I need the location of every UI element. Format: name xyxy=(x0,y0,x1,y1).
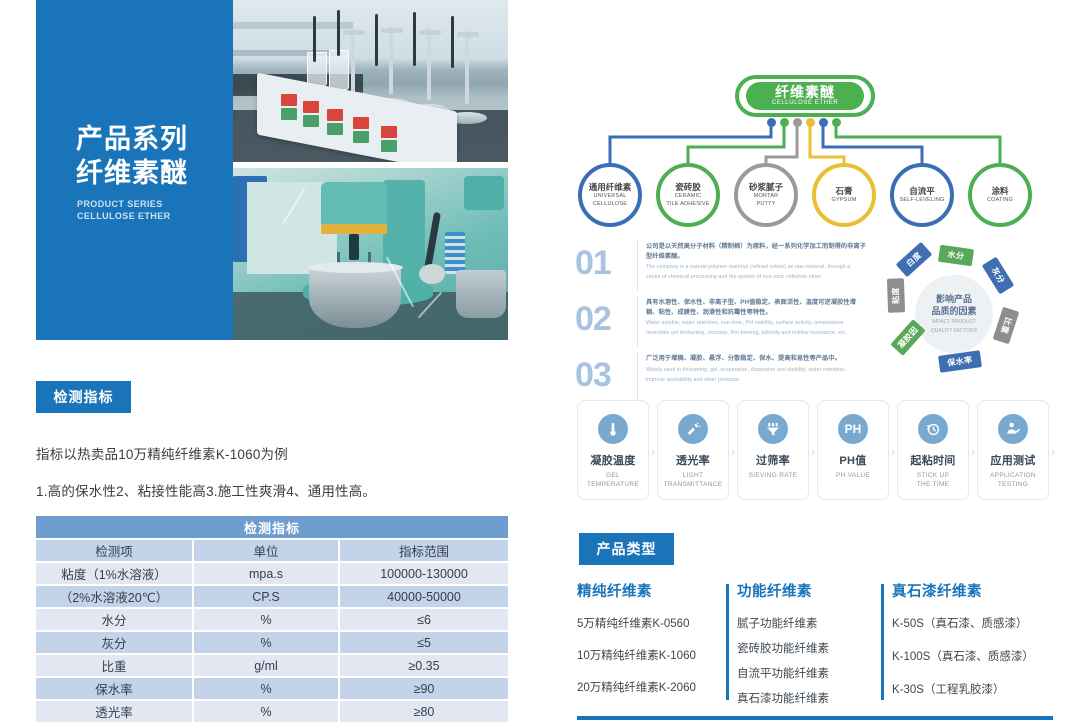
segment-whiteness: 白度 xyxy=(896,242,933,277)
segment-ash: 灰分 xyxy=(982,257,1014,295)
leaf-label-cn: 通用纤维素 xyxy=(589,182,632,193)
table-cell: 水分 xyxy=(36,609,194,630)
item-number: 03 xyxy=(575,352,637,402)
circle-center: 影响产品 品质的因素 IMPACT PRODUCT QUALITY FACTOR… xyxy=(915,275,993,353)
table-cell: % xyxy=(194,609,340,630)
table-row: 透光率%≥80 xyxy=(36,701,508,722)
clock-icon xyxy=(918,414,948,444)
metric-card-label-en: LIGHTTRANSMITTANCE xyxy=(664,471,723,489)
metric-card-label-en: STICK UPTHE TIME xyxy=(917,471,950,489)
segment-viscosity: 粘度 xyxy=(887,278,905,313)
leaf-label-en1: SELF-LEVELING xyxy=(899,197,944,205)
thermometer-icon xyxy=(598,414,628,444)
metric-card-flashlight[interactable]: 透光率LIGHTTRANSMITTANCE› xyxy=(657,400,729,500)
table-cell: ≥0.35 xyxy=(340,655,508,676)
hero-subtitle-line1: PRODUCT SERIES xyxy=(77,198,171,210)
item-text: 具有水溶性、保水性、非离子型、PH值稳定、表面活性、温度可逆凝胶性增稠、粘性、成… xyxy=(646,296,875,346)
chevron-right-icon: › xyxy=(891,447,895,459)
table-cell: ≥90 xyxy=(340,678,508,699)
circle-center-en1: IMPACT PRODUCT xyxy=(932,319,977,326)
metric-card-label-cn: PH值 xyxy=(839,452,866,468)
tree-leaf-coating: 涂料 COATING xyxy=(968,163,1032,227)
hero-title-line1: 产品系列 xyxy=(76,122,188,156)
product-type-heading: 真石漆纤维素 xyxy=(892,580,1038,601)
sieve-icon xyxy=(758,414,788,444)
product-type-item[interactable]: K-100S（真石漆、质感漆） xyxy=(892,650,1038,664)
leaf-label-en1: MORTAR xyxy=(754,193,779,201)
table-cell: CP.S xyxy=(194,586,340,607)
product-type-column-1: 精纯纤维素5万精纯纤维素K-056010万精纯纤维素K-106020万精纯纤维素… xyxy=(577,580,737,717)
left-column: 产品系列 纤维素醚 PRODUCT SERIES CELLULOSE ETHER xyxy=(0,0,545,728)
product-type-item[interactable]: K-30S（工程乳胶漆） xyxy=(892,683,1038,697)
item-divider xyxy=(637,240,638,290)
segment-moisture: 水分 xyxy=(938,245,974,267)
leaf-label-cn: 自流平 xyxy=(909,186,935,197)
item-cn-line2: 稠、粘性、成膜性、润滑性和抗霉性等特性。 xyxy=(646,308,875,318)
hero-title-panel: 产品系列 纤维素醚 PRODUCT SERIES CELLULOSE ETHER xyxy=(36,0,233,340)
mortar-mixer-photo xyxy=(233,168,508,340)
item-divider xyxy=(637,352,638,402)
product-type-item[interactable]: 真石漆功能纤维素 xyxy=(737,692,878,706)
laboratory-stirrer-photo xyxy=(233,0,508,162)
leaf-label-en2: CELLULOSE xyxy=(593,201,627,209)
test-metric-cards: 凝胶温度GELTEMPERATURE›透光率LIGHTTRANSMITTANCE… xyxy=(577,400,1049,500)
leaf-label-en1: GYPSUM xyxy=(831,197,856,205)
table-cell: （2%水溶液20℃） xyxy=(36,586,194,607)
product-type-column-2: 功能纤维素腻子功能纤维素瓷砖胶功能纤维素自流平功能纤维素真石漆功能纤维素 xyxy=(737,580,892,717)
quality-factors-circle-diagram: 影响产品 品质的因素 IMPACT PRODUCT QUALITY FACTOR… xyxy=(877,245,1027,390)
metric-card-sieve[interactable]: 过筛率SIEVING RATE› xyxy=(737,400,809,500)
product-type-item[interactable]: 20万精纯纤维素K-2060 xyxy=(577,681,723,695)
table-cell: ≥80 xyxy=(340,701,508,722)
numbered-item-01: 01公司是以天然高分子材料（精制棉）为原料，经一系列化学加工而制得的非离子型纤维… xyxy=(575,240,875,290)
leaf-label-en1: CERAMIC xyxy=(675,193,702,201)
tree-dot-1 xyxy=(767,118,776,127)
table-cell: 100000-130000 xyxy=(340,563,508,584)
product-type-badge: 产品类型 xyxy=(579,533,674,565)
table-cell: 保水率 xyxy=(36,678,194,699)
product-type-item[interactable]: K-50S（真石漆、质感漆） xyxy=(892,617,1038,631)
table-row: （2%水溶液20℃）CP.S40000-50000 xyxy=(36,586,508,607)
feature-numbered-list: 01公司是以天然高分子材料（精制棉）为原料，经一系列化学加工而制得的非离子型纤维… xyxy=(575,240,875,408)
item-divider xyxy=(637,296,638,346)
tree-leaf-mortar-putty: 砂浆腻子 MORTAR PUTTY xyxy=(734,163,798,227)
hero-photos xyxy=(233,0,511,340)
table-caption-row: 检测指标 xyxy=(36,516,508,538)
metric-card-label-cn: 过筛率 xyxy=(756,452,790,468)
right-column: 纤维素醚 CELLULOSE ETHER 通用纤维素 UNIVERSAL CEL… xyxy=(545,0,1080,728)
metric-card-label-cn: 应用测试 xyxy=(990,452,1035,468)
table-cell: ≤6 xyxy=(340,609,508,630)
table-header-cell: 指标范围 xyxy=(340,540,508,561)
table-header-cell: 单位 xyxy=(194,540,340,561)
metric-card-label-cn: 起粘时间 xyxy=(910,452,955,468)
item-cn-line1: 公司是以天然高分子材料（精制棉）为原料，经一系列化学加工而制得的非离子 xyxy=(646,242,875,252)
leaf-label-en2: PUTTY xyxy=(756,201,775,209)
hero-subtitle-line2: CELLULOSE ETHER xyxy=(77,210,171,222)
table-row: 灰分%≤5 xyxy=(36,632,508,653)
table-row: 水分%≤6 xyxy=(36,609,508,630)
tree-root-label-cn: 纤维素醚 xyxy=(775,85,835,99)
metric-card-thermometer[interactable]: 凝胶温度GELTEMPERATURE› xyxy=(577,400,649,500)
inspection-table: 检测指标检测项单位指标范围粘度（1%水溶液）mpa.s100000-130000… xyxy=(36,514,508,724)
chevron-right-icon: › xyxy=(971,447,975,459)
leaf-label-en1: COATING xyxy=(987,197,1013,205)
table-cell: mpa.s xyxy=(194,563,340,584)
product-type-item[interactable]: 自流平功能纤维素 xyxy=(737,667,878,681)
item-text: 公司是以天然高分子材料（精制棉）为原料，经一系列化学加工而制得的非离子型纤维素醚… xyxy=(646,240,875,290)
table-cell: 粘度（1%水溶液） xyxy=(36,563,194,584)
segment-specific-gravity: 比重 xyxy=(993,307,1020,345)
segment-water-retention: 保水率 xyxy=(938,350,982,373)
table-row: 比重g/ml≥0.35 xyxy=(36,655,508,676)
intro-line-2: 1.高的保水性2、粘接性能高3.施工性爽滑4、通用性高。 xyxy=(36,480,376,500)
tree-leaf-universal-cellulose: 通用纤维素 UNIVERSAL CELLULOSE xyxy=(578,163,642,227)
metric-card-label-cn: 透光率 xyxy=(676,452,710,468)
metric-card-user-check[interactable]: 应用测试APPLICATIONTESTING› xyxy=(977,400,1049,500)
table-cell: % xyxy=(194,632,340,653)
table-header-cell: 检测项 xyxy=(36,540,194,561)
tree-dot-2 xyxy=(780,118,789,127)
product-type-item[interactable]: 5万精纯纤维素K-0560 xyxy=(577,617,723,631)
user-check-icon xyxy=(998,414,1028,444)
column-divider xyxy=(881,584,884,700)
item-en-line2: reversible gel thickening, viscosity, fi… xyxy=(646,329,875,337)
table-caption: 检测指标 xyxy=(36,516,508,538)
table-cell: 透光率 xyxy=(36,701,194,722)
leaf-label-cn: 瓷砖胶 xyxy=(675,182,701,193)
item-text: 广泛用于增稠、凝胶、悬浮、分散稳定、保水、提高和易性等产品中。Widely us… xyxy=(646,352,875,402)
circle-center-en2: QUALITY FACTORS xyxy=(931,328,977,335)
metric-card-label-en: PH VALUE xyxy=(836,471,870,480)
application-tree-diagram: 纤维素醚 CELLULOSE ETHER 通用纤维素 UNIVERSAL CEL… xyxy=(575,55,1055,235)
tree-root-label-en: CELLULOSE ETHER xyxy=(772,99,838,108)
metric-card-label-en: APPLICATIONTESTING xyxy=(990,471,1036,489)
metric-card-label-en: SIEVING RATE xyxy=(749,471,798,480)
product-type-item[interactable]: 腻子功能纤维素 xyxy=(737,617,878,631)
product-type-item[interactable]: 10万精纯纤维素K-1060 xyxy=(577,649,723,663)
numbered-item-03: 03广泛用于增稠、凝胶、悬浮、分散稳定、保水、提高和易性等产品中。Widely … xyxy=(575,352,875,402)
item-en-line2: series of chemical processing and the sy… xyxy=(646,273,875,281)
ph-glyph: PH xyxy=(845,422,862,436)
flashlight-icon xyxy=(678,414,708,444)
leaf-label-en1: UNIVERSAL xyxy=(594,193,627,201)
table-header-row: 检测项单位指标范围 xyxy=(36,540,508,561)
item-cn-line2: 型纤维素醚。 xyxy=(646,252,875,262)
inspection-index-badge: 检测指标 xyxy=(36,381,131,413)
item-en-line2: improve workability and other products. xyxy=(646,376,875,384)
chevron-right-icon: › xyxy=(651,447,655,459)
table-cell: % xyxy=(194,678,340,699)
item-en-line1: The company is a natural polymer materia… xyxy=(646,263,875,271)
numbered-item-02: 02具有水溶性、保水性、非离子型、PH值稳定、表面活性、温度可逆凝胶性增稠、粘性… xyxy=(575,296,875,346)
item-cn-line1: 广泛用于增稠、凝胶、悬浮、分散稳定、保水、提高和易性等产品中。 xyxy=(646,354,875,364)
product-type-heading: 功能纤维素 xyxy=(737,580,878,601)
hero-banner: 产品系列 纤维素醚 PRODUCT SERIES CELLULOSE ETHER xyxy=(36,0,511,340)
product-type-columns: 精纯纤维素5万精纯纤维素K-056010万精纯纤维素K-106020万精纯纤维素… xyxy=(577,580,1052,717)
product-page: 产品系列 纤维素醚 PRODUCT SERIES CELLULOSE ETHER xyxy=(0,0,1080,728)
chevron-right-icon: › xyxy=(811,447,815,459)
table-cell: 40000-50000 xyxy=(340,586,508,607)
leaf-label-en2: TILE ADHESIVE xyxy=(666,201,709,209)
item-en-line1: Widely used in thickening, gel, suspensi… xyxy=(646,366,875,374)
intro-line-1: 指标以热卖品10万精纯纤维素K-1060为例 xyxy=(36,443,288,463)
table-cell: ≤5 xyxy=(340,632,508,653)
metric-card-ph[interactable]: PHPH值PH VALUE› xyxy=(817,400,889,500)
table-cell: 灰分 xyxy=(36,632,194,653)
chevron-right-icon: › xyxy=(731,447,735,459)
hero-title: 产品系列 纤维素醚 xyxy=(76,122,188,190)
metric-card-label-en: GELTEMPERATURE xyxy=(587,471,639,489)
circle-center-cn1: 影响产品 xyxy=(936,293,972,305)
table-cell: g/ml xyxy=(194,655,340,676)
table-cell: 比重 xyxy=(36,655,194,676)
bottom-rule xyxy=(577,716,1053,720)
tree-dot-6 xyxy=(832,118,841,127)
tree-leaf-self-leveling: 自流平 SELF-LEVELING xyxy=(890,163,954,227)
product-type-item[interactable]: 瓷砖胶功能纤维素 xyxy=(737,642,878,656)
circle-center-cn2: 品质的因素 xyxy=(931,305,976,317)
chevron-right-icon: › xyxy=(1051,447,1055,459)
metric-card-label-cn: 凝胶温度 xyxy=(590,452,635,468)
item-cn-line1: 具有水溶性、保水性、非离子型、PH值稳定、表面活性、温度可逆凝胶性增 xyxy=(646,298,875,308)
item-number: 01 xyxy=(575,240,637,290)
table-row: 粘度（1%水溶液）mpa.s100000-130000 xyxy=(36,563,508,584)
tree-dot-3 xyxy=(793,118,802,127)
tree-leaf-gypsum: 石膏 GYPSUM xyxy=(812,163,876,227)
leaf-label-cn: 涂料 xyxy=(991,186,1008,197)
hero-title-line2: 纤维素醚 xyxy=(76,156,188,190)
tree-leaf-ceramic-tile-adhesive: 瓷砖胶 CERAMIC TILE ADHESIVE xyxy=(656,163,720,227)
table-cell: % xyxy=(194,701,340,722)
hero-subtitle: PRODUCT SERIES CELLULOSE ETHER xyxy=(77,198,171,222)
ph-icon: PH xyxy=(838,414,868,444)
product-type-heading: 精纯纤维素 xyxy=(577,580,723,601)
column-divider xyxy=(726,584,729,700)
item-en-line1: Water soluble, water retention, non-ioni… xyxy=(646,319,875,327)
leaf-label-cn: 砂浆腻子 xyxy=(749,182,783,193)
table-row: 保水率%≥90 xyxy=(36,678,508,699)
tree-dot-4 xyxy=(806,118,815,127)
tree-dot-5 xyxy=(819,118,828,127)
product-type-column-3: 真石漆纤维素K-50S（真石漆、质感漆）K-100S（真石漆、质感漆）K-30S… xyxy=(892,580,1052,717)
tree-root-node: 纤维素醚 CELLULOSE ETHER xyxy=(735,75,875,117)
item-number: 02 xyxy=(575,296,637,346)
metric-card-clock[interactable]: 起粘时间STICK UPTHE TIME› xyxy=(897,400,969,500)
leaf-label-cn: 石膏 xyxy=(835,186,852,197)
